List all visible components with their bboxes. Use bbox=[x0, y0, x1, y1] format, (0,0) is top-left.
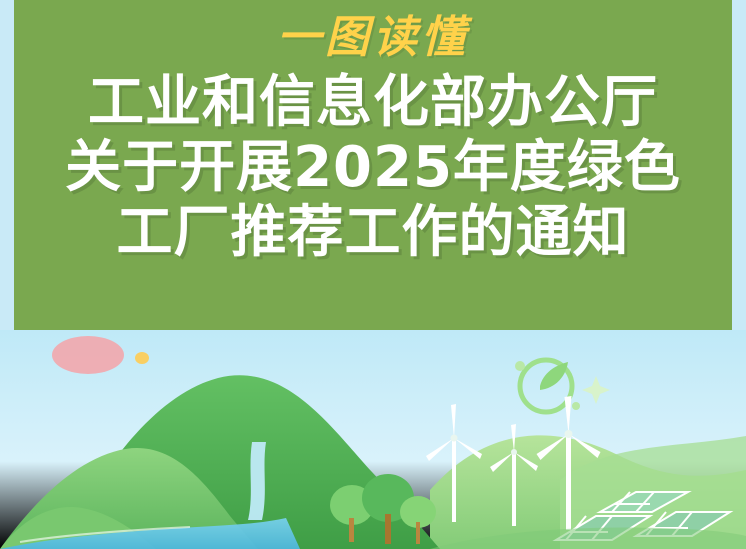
title-line-3: 工厂推荐工作的通知 bbox=[65, 201, 681, 266]
title-line-2: 关于开展2025年度绿色 bbox=[65, 136, 681, 201]
infographic-poster: 一图读懂 工业和信息化部办公厅 关于开展2025年度绿色 工厂推荐工作的通知 bbox=[0, 0, 746, 549]
right-edge-strip bbox=[732, 0, 746, 340]
eyebrow-label: 一图读懂 bbox=[277, 10, 469, 65]
page-title: 工业和信息化部办公厅 关于开展2025年度绿色 工厂推荐工作的通知 bbox=[65, 71, 681, 266]
header-panel: 一图读懂 工业和信息化部办公厅 关于开展2025年度绿色 工厂推荐工作的通知 bbox=[14, 0, 732, 340]
landscape-illustration bbox=[0, 330, 746, 549]
scene-svg bbox=[0, 330, 746, 549]
title-line-1: 工业和信息化部办公厅 bbox=[65, 71, 681, 136]
left-edge-strip bbox=[0, 0, 14, 340]
